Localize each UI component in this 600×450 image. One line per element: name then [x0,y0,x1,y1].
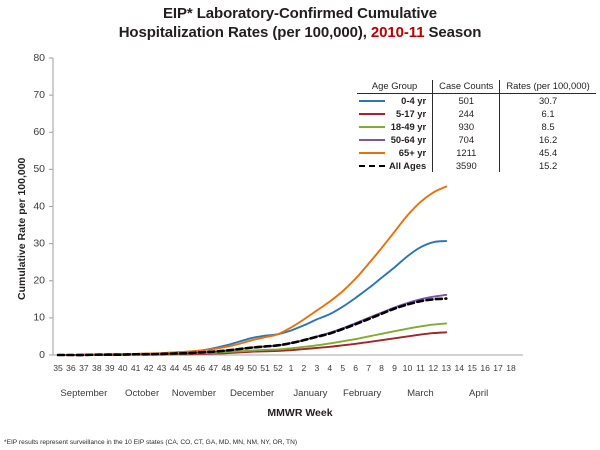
legend-case-count: 930 [433,120,500,133]
legend-series-label: 5-17 yr [389,107,426,120]
y-tick-label: 50 [33,163,45,175]
x-tick-label: 42 [144,363,154,373]
month-band-label: November [172,388,217,399]
x-tick-label: 4 [327,363,332,373]
footnote: *EIP results represent surveillance in t… [4,439,297,446]
x-tick-label: 41 [131,363,141,373]
y-tick-label: 70 [33,89,45,101]
x-tick-label: 50 [247,363,257,373]
legend-case-count: 501 [433,94,500,108]
y-tick-label: 10 [33,312,45,324]
legend-color-swatch [359,165,385,167]
series-line-all-ages [58,299,446,355]
x-tick-label: 37 [79,363,89,373]
x-tick-label: 38 [92,363,102,373]
legend-rate: 16.2 [500,133,596,146]
legend-color-swatch [359,152,385,154]
series-line-5-17-yr [58,332,446,355]
x-tick-label: 11 [416,363,425,373]
legend-row: 5-17 yr2446.1 [357,107,596,120]
x-axis-label: MMWR Week [0,407,600,419]
chart-container: EIP* Laboratory-Confirmed Cumulative Hos… [0,0,600,450]
y-tick-label: 0 [39,349,45,361]
month-band-label: December [230,388,275,399]
legend-case-count: 704 [433,133,500,146]
x-tick-label: 8 [379,363,384,373]
x-tick-label: 43 [157,363,167,373]
x-tick-label: 7 [366,363,371,373]
month-band-label: April [469,388,488,399]
x-tick-label: 2 [302,363,307,373]
x-tick-label: 1 [289,363,294,373]
legend-header-age-group: Age Group [357,80,433,94]
legend-series-label: 18-49 yr [389,120,426,133]
legend-series-cell: 0-4 yr [357,94,433,108]
x-tick-label: 10 [403,363,413,373]
x-tick-label: 45 [183,363,193,373]
legend-series-label: 65+ yr [389,146,426,159]
y-tick-label: 60 [33,126,45,138]
legend-color-swatch [359,126,385,128]
x-tick-label: 14 [454,363,464,373]
legend-color-swatch [359,113,385,115]
x-tick-label: 47 [209,363,219,373]
month-band-label: March [407,388,434,399]
x-tick-label: 16 [480,363,490,373]
x-tick-label: 39 [105,363,115,373]
x-tick-label: 13 [442,363,452,373]
legend-rate: 8.5 [500,120,596,133]
legend-case-count: 3590 [433,159,500,172]
series-line-65-yr [58,186,446,355]
x-tick-label: 46 [196,363,206,373]
x-tick-label: 35 [53,363,63,373]
y-tick-label: 40 [33,200,45,212]
month-band-label: February [343,388,382,399]
series-line-50-64-yr [58,295,446,355]
x-tick-label: 6 [353,363,358,373]
legend-row: 0-4 yr50130.7 [357,94,596,108]
legend-case-count: 244 [433,107,500,120]
legend-row: 65+ yr121145.4 [357,146,596,159]
x-tick-label: 52 [273,363,283,373]
x-tick-label: 40 [118,363,128,373]
y-tick-label: 80 [33,52,45,64]
legend-series-label: All Ages [389,159,426,172]
x-tick-label: 15 [467,363,477,373]
y-tick-label: 30 [33,237,45,249]
legend-header-case-counts: Case Counts [433,80,500,94]
legend-rate: 45.4 [500,146,596,159]
x-tick-label: 9 [392,363,397,373]
x-tick-label: 17 [493,363,503,373]
legend-table: Age Group Case Counts Rates (per 100,000… [357,80,596,172]
series-line-0-4-yr [58,241,446,355]
legend-row: 18-49 yr9308.5 [357,120,596,133]
x-tick-label: 12 [429,363,439,373]
legend-header-row: Age Group Case Counts Rates (per 100,000… [357,80,596,94]
legend-rate: 30.7 [500,94,596,108]
legend-color-swatch [359,139,385,141]
month-band-label: January [293,388,327,399]
legend-series-label: 50-64 yr [389,133,426,146]
legend-rate: 6.1 [500,107,596,120]
legend-row: 50-64 yr70416.2 [357,133,596,146]
x-tick-label: 48 [221,363,231,373]
x-tick-label: 5 [340,363,345,373]
legend-row: All Ages359015.2 [357,159,596,172]
legend-series-cell: 65+ yr [357,146,433,159]
y-tick-label: 20 [33,275,45,287]
plot-area: 0102030405060708035363738394041424344454… [0,0,600,450]
legend-series-cell: 50-64 yr [357,133,433,146]
legend-rate: 15.2 [500,159,596,172]
month-band-label: September [60,388,108,399]
x-tick-label: 49 [234,363,244,373]
x-tick-label: 51 [260,363,270,373]
legend-case-count: 1211 [433,146,500,159]
legend-series-cell: 18-49 yr [357,120,433,133]
y-axis-label: Cumulative Rate per 100,000 [16,158,28,300]
x-tick-label: 36 [66,363,76,373]
x-tick-label: 3 [314,363,319,373]
x-tick-label: 44 [170,363,180,373]
legend-series-cell: 5-17 yr [357,107,433,120]
legend-color-swatch [359,100,385,102]
legend-header-rates: Rates (per 100,000) [500,80,596,94]
x-tick-label: 18 [506,363,516,373]
month-band-label: October [125,388,160,399]
legend-series-label: 0-4 yr [389,94,426,107]
legend-series-cell: All Ages [357,159,433,172]
